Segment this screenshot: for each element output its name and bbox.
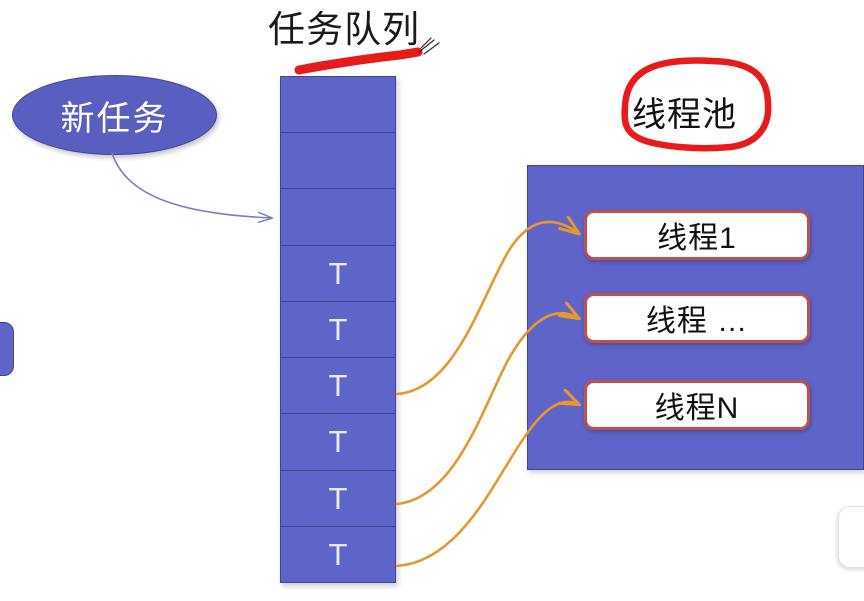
ink-title-underline: [299, 52, 418, 70]
arrow-new-task-to-queue: [112, 153, 272, 218]
ink-thread-pool-circle: [625, 61, 769, 149]
diagram-canvas: 任务队列 新任务 T T T T T T 线程1 线程 … 线程N 线程池: [0, 0, 864, 601]
arrow-queue-to-thread-3: [397, 402, 578, 566]
connector-layer: [0, 0, 864, 601]
arrow-queue-to-thread-1: [397, 222, 578, 394]
